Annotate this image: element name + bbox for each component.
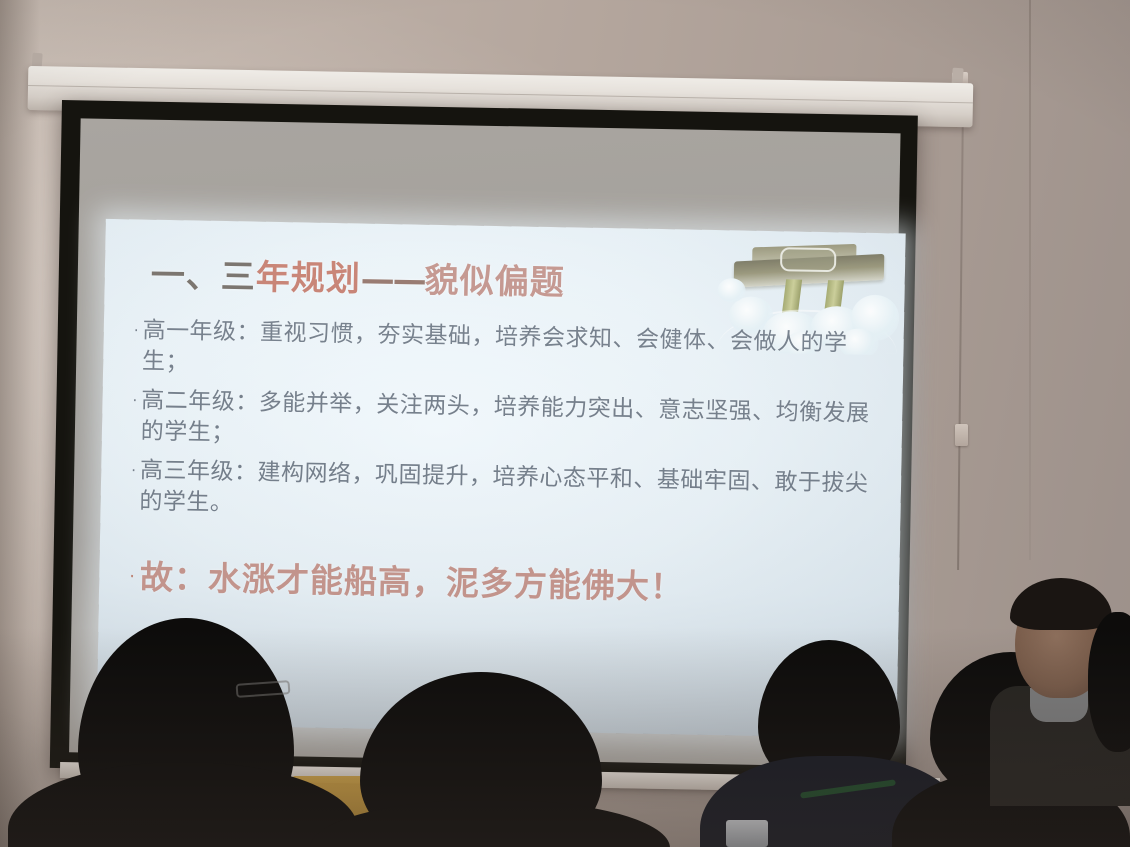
scene-bottom-shadow xyxy=(0,627,1130,847)
bullet-text: 高三年级：建构网络，巩固提升，培养心态平和、基础牢固、敢于拔尖的学生。 xyxy=(139,455,871,530)
bullet-text: 高二年级：多能并举，关注两头，培养能力突出、意志坚强、均衡发展的学生； xyxy=(140,386,872,461)
slide-title-part-rose: 貌似偏题 xyxy=(424,261,565,304)
bullet-text: 高一年级：重视习惯，夯实基础，培养会求知、会健体、会做人的学生； xyxy=(142,316,874,391)
bullet-marker-icon: · xyxy=(129,555,136,599)
slide-title: 一、三年规划——貌似偏题 xyxy=(150,248,565,305)
slide-bullet-list: · 高一年级：重视习惯，夯实基础，培养会求知、会健体、会做人的学生； · 高二年… xyxy=(130,315,874,539)
bullet-marker-icon: · xyxy=(134,315,139,345)
slide-highlight-line: · 故：水涨才能船高，泥多方能佛大！ xyxy=(129,555,890,613)
classroom-photo-scene: 一、三年规划——貌似偏题 xyxy=(0,0,1130,847)
highlight-text: 故：水涨才能船高，泥多方能佛大！ xyxy=(140,556,685,610)
roller-seam xyxy=(28,85,973,103)
slide-title-part-dark: 一、三 xyxy=(150,256,256,298)
list-item: · 高一年级：重视习惯，夯实基础，培养会求知、会健体、会做人的学生； xyxy=(133,315,874,391)
list-item: · 高三年级：建构网络，巩固提升，培养心态平和、基础牢固、敢于拔尖的学生。 xyxy=(130,455,871,531)
bullet-marker-icon: · xyxy=(131,455,136,485)
slide-title-part-red: 年规划 xyxy=(255,258,361,300)
cable-clip xyxy=(955,424,968,446)
bullet-marker-icon: · xyxy=(132,385,137,415)
slide-title-dash: —— xyxy=(360,260,425,301)
list-item: · 高二年级：多能并举，关注两头，培养能力突出、意志坚强、均衡发展的学生； xyxy=(132,385,873,461)
wall-seam xyxy=(1029,0,1031,560)
